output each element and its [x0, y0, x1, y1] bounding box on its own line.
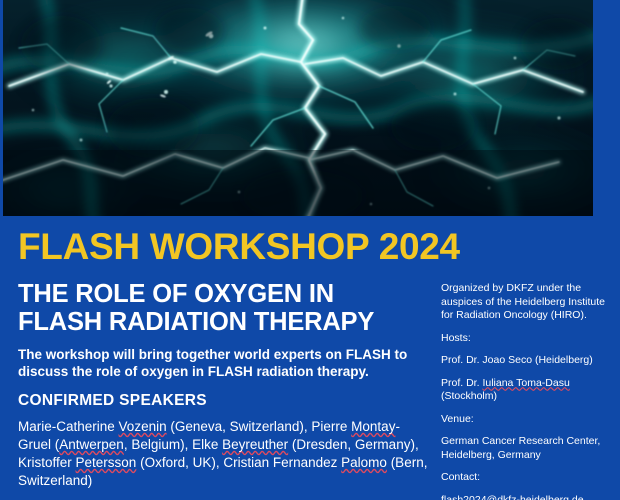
poster-body: FLASH WORKSHOP 2024 THE ROLE OF OXYGEN I…: [0, 216, 620, 500]
page-title[interactable]: FLASH WORKSHOP 2024: [18, 226, 460, 268]
spellcheck-word-vozenin[interactable]: Vozenin: [119, 419, 167, 434]
hero-left-margin: [0, 0, 3, 216]
venue-label: Venue:: [441, 413, 611, 427]
speaker-text-part: (Oxford, UK), Cristian Fernandez: [136, 455, 341, 470]
subtitle-line-2: FLASH RADIATION THERAPY: [18, 308, 374, 336]
left-column: THE ROLE OF OXYGEN IN FLASH RADIATION TH…: [18, 280, 430, 490]
right-column: Organized by DKFZ under the auspices of …: [441, 282, 611, 500]
subtitle-line-1: THE ROLE OF OXYGEN IN: [18, 280, 334, 308]
host-2-prefix: Prof. Dr.: [441, 377, 482, 389]
spellcheck-word-antwerpen[interactable]: Antwerpen: [59, 437, 124, 452]
confirmed-speakers-list[interactable]: Marie-Catherine Vozenin (Geneva, Switzer…: [18, 418, 430, 490]
workshop-description[interactable]: The workshop will bring together world e…: [18, 346, 430, 380]
speaker-text-part: Marie-Catherine: [18, 419, 119, 434]
spellcheck-word-palomo[interactable]: Palomo: [341, 455, 387, 470]
poster-subtitle[interactable]: THE ROLE OF OXYGEN IN FLASH RADIATION TH…: [18, 280, 430, 336]
speaker-text-part: (Geneva, Switzerland), Pierre: [167, 419, 352, 434]
spellcheck-word-beyreuther[interactable]: Beyreuther: [222, 437, 288, 452]
poster-slide: FLASH WORKSHOP 2024 THE ROLE OF OXYGEN I…: [0, 0, 620, 500]
hero-plasma-image[interactable]: [3, 0, 593, 216]
hosts-label: Hosts:: [441, 332, 611, 346]
spellcheck-word-petersson[interactable]: Petersson: [76, 455, 137, 470]
host-item-1[interactable]: Prof. Dr. Joao Seco (Heidelberg): [441, 354, 611, 368]
venue-address[interactable]: German Cancer Research Center, Heidelber…: [441, 435, 611, 462]
speaker-text-part: , Belgium), Elke: [124, 437, 222, 452]
host-2-city: (Stockholm): [441, 390, 497, 402]
hero-right-margin: [593, 0, 620, 216]
contact-label: Contact:: [441, 471, 611, 485]
plasma-illustration: [3, 0, 593, 216]
organizer-text[interactable]: Organized by DKFZ under the auspices of …: [441, 282, 611, 323]
spellcheck-word-montay[interactable]: Montay: [351, 419, 395, 434]
contact-email[interactable]: flash2024@dkfz-heidelberg.de: [441, 494, 611, 500]
spellcheck-word-iuliana-toma-dasu[interactable]: Iuliana Toma-Dasu: [482, 377, 569, 389]
host-item-2[interactable]: Prof. Dr. Iuliana Toma-Dasu(Stockholm): [441, 377, 611, 404]
confirmed-speakers-heading: CONFIRMED SPEAKERS: [18, 391, 430, 410]
